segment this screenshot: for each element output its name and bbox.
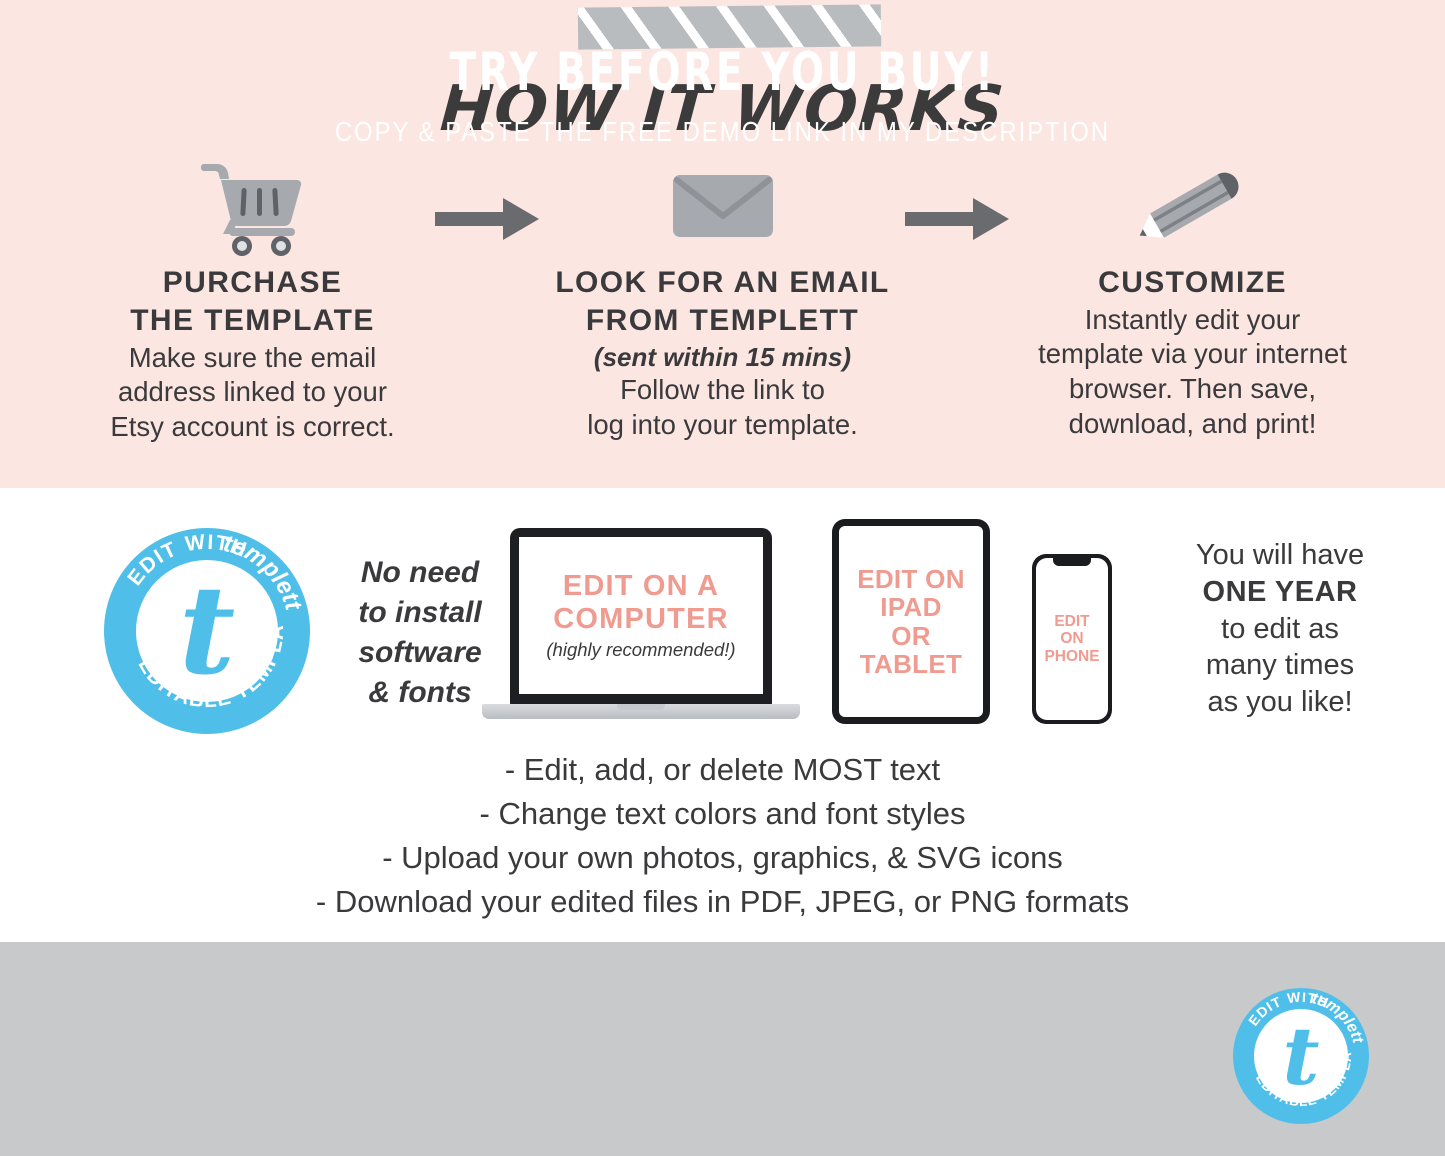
- step-email-heading-l2: FROM TEMPLETT: [543, 302, 903, 340]
- try-before-you-buy-banner: [0, 942, 1445, 1156]
- arrow-right-icon-2: [903, 196, 1013, 242]
- step-email-body-l2: log into your template.: [543, 408, 903, 443]
- step-email-heading: LOOK FOR AN EMAIL FROM TEMPLETT: [543, 264, 903, 340]
- step-purchase-heading-l2: THE TEMPLATE: [73, 302, 433, 340]
- phone-device: EDIT ON PHONE: [1032, 554, 1112, 724]
- templett-badge-large: t EDIT WITH templett EDITABLE TEMPLATE: [104, 528, 310, 734]
- badge-top-script: templett: [1310, 990, 1366, 1045]
- laptop-device: EDIT ON A COMPUTER (highly recommended!): [482, 528, 800, 733]
- list-item: - Upload your own photos, graphics, & SV…: [0, 836, 1445, 880]
- step-purchase: PURCHASE THE TEMPLATE Make sure the emai…: [73, 150, 433, 445]
- step-email-heading-l1: LOOK FOR AN EMAIL: [543, 264, 903, 302]
- step-email: LOOK FOR AN EMAIL FROM TEMPLETT (sent wi…: [543, 150, 903, 443]
- one-year-l3: to edit as: [1130, 611, 1430, 648]
- svg-text:templett: templett: [1310, 990, 1366, 1045]
- step-email-italic: (sent within 15 mins): [543, 341, 903, 374]
- tablet-device: EDIT ON IPAD OR TABLET: [832, 519, 990, 724]
- laptop-line1: EDIT ON A: [553, 570, 729, 602]
- arrow-right-icon-1: [433, 196, 543, 242]
- one-year-l1: You will have: [1130, 537, 1430, 574]
- envelope-icon: [543, 150, 903, 262]
- step-customize-body-l2: template via your internet: [1013, 337, 1373, 372]
- tablet-screen-text: EDIT ON IPAD OR TABLET: [857, 565, 965, 677]
- phone-line1: EDIT: [1044, 613, 1099, 630]
- step-email-body: (sent within 15 mins) Follow the link to…: [543, 341, 903, 443]
- step-customize-heading: CUSTOMIZE: [1013, 264, 1373, 302]
- steps-row: PURCHASE THE TEMPLATE Make sure the emai…: [0, 150, 1445, 445]
- one-year-l2: ONE YEAR: [1130, 574, 1430, 611]
- phone-screen-text: EDIT ON PHONE: [1044, 613, 1099, 665]
- list-item: - Edit, add, or delete MOST text: [0, 748, 1445, 792]
- one-year-text: You will have ONE YEAR to edit as many t…: [1130, 537, 1430, 721]
- pencil-icon: [1013, 150, 1373, 262]
- laptop-screen: EDIT ON A COMPUTER (highly recommended!): [519, 537, 763, 694]
- phone-screen: EDIT ON PHONE: [1036, 558, 1108, 720]
- tablet-screen: EDIT ON IPAD OR TABLET: [839, 526, 983, 717]
- step-customize-body: Instantly edit your template via your in…: [1013, 303, 1373, 442]
- footer-title: TRY BEFORE YOU BUY!: [130, 42, 1315, 103]
- list-item: - Change text colors and font styles: [0, 792, 1445, 836]
- step-customize: CUSTOMIZE Instantly edit your template v…: [1013, 150, 1373, 441]
- phone-line3: PHONE: [1044, 648, 1099, 665]
- step-customize-heading-l1: CUSTOMIZE: [1013, 264, 1373, 302]
- laptop-trackpad-notch: [617, 704, 665, 710]
- step-purchase-heading: PURCHASE THE TEMPLATE: [73, 264, 433, 340]
- tablet-line1: EDIT ON: [857, 565, 965, 593]
- tablet-line4: TABLET: [857, 650, 965, 678]
- step-purchase-body-l3: Etsy account is correct.: [73, 410, 433, 445]
- one-year-l4: many times: [1130, 647, 1430, 684]
- step-purchase-body-l2: address linked to your: [73, 375, 433, 410]
- laptop-note: (highly recommended!): [546, 639, 735, 661]
- shopping-cart-icon: [73, 150, 433, 262]
- templett-badge-arc-text: EDIT WITH templett EDITABLE TEMPLATE: [1233, 988, 1369, 1124]
- laptop-lid: EDIT ON A COMPUTER (highly recommended!): [510, 528, 772, 706]
- one-year-l5: as you like!: [1130, 684, 1430, 721]
- feature-bullet-list: - Edit, add, or delete MOST text - Chang…: [0, 748, 1445, 924]
- laptop-screen-heading: EDIT ON A COMPUTER: [553, 570, 729, 635]
- step-customize-body-l1: Instantly edit your: [1013, 303, 1373, 338]
- templett-badge-small: t EDIT WITH templett EDITABLE TEMPLATE: [1233, 988, 1369, 1124]
- how-it-works-infographic: HOW IT WORKS: [0, 0, 1445, 1156]
- footer-subtitle: COPY & PASTE THE FREE DEMO LINK IN MY DE…: [108, 116, 1336, 148]
- laptop-line2: COMPUTER: [553, 603, 729, 635]
- step-customize-body-l4: download, and print!: [1013, 407, 1373, 442]
- step-purchase-body: Make sure the email address linked to yo…: [73, 341, 433, 445]
- phone-notch: [1053, 558, 1091, 566]
- step-purchase-heading-l1: PURCHASE: [73, 264, 433, 302]
- phone-line2: ON: [1044, 630, 1099, 647]
- list-item: - Download your edited files in PDF, JPE…: [0, 880, 1445, 924]
- step-email-body-l1: Follow the link to: [543, 373, 903, 408]
- tablet-line3: OR: [857, 622, 965, 650]
- tablet-line2: IPAD: [857, 593, 965, 621]
- step-customize-body-l3: browser. Then save,: [1013, 372, 1373, 407]
- step-purchase-body-l1: Make sure the email: [73, 341, 433, 376]
- templett-badge-arc-text: EDIT WITH templett EDITABLE TEMPLATE: [104, 528, 310, 734]
